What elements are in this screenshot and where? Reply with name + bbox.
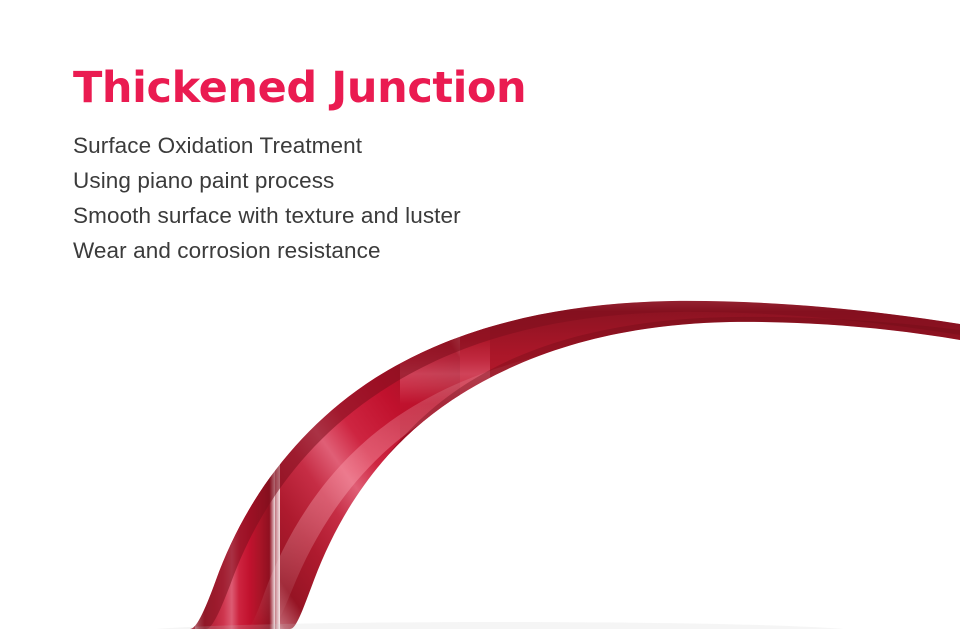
red-anodized-tube-illustration — [0, 280, 960, 629]
tube-blend-left — [195, 410, 275, 629]
list-item: Surface Oxidation Treatment — [73, 128, 526, 163]
list-item: Using piano paint process — [73, 163, 526, 198]
feature-list: Surface Oxidation Treatment Using piano … — [73, 128, 526, 268]
list-item: Smooth surface with texture and luster — [73, 198, 526, 233]
list-item: Wear and corrosion resistance — [73, 233, 526, 268]
page-title: Thickened Junction — [73, 66, 526, 111]
tube-specular-highlight — [246, 339, 960, 629]
text-block: Thickened Junction Surface Oxidation Tre… — [73, 66, 526, 268]
tube-bottom-rim — [290, 317, 960, 629]
promo-banner: Thickened Junction Surface Oxidation Tre… — [0, 0, 960, 629]
tube-body — [150, 280, 960, 629]
product-photo — [0, 280, 960, 629]
